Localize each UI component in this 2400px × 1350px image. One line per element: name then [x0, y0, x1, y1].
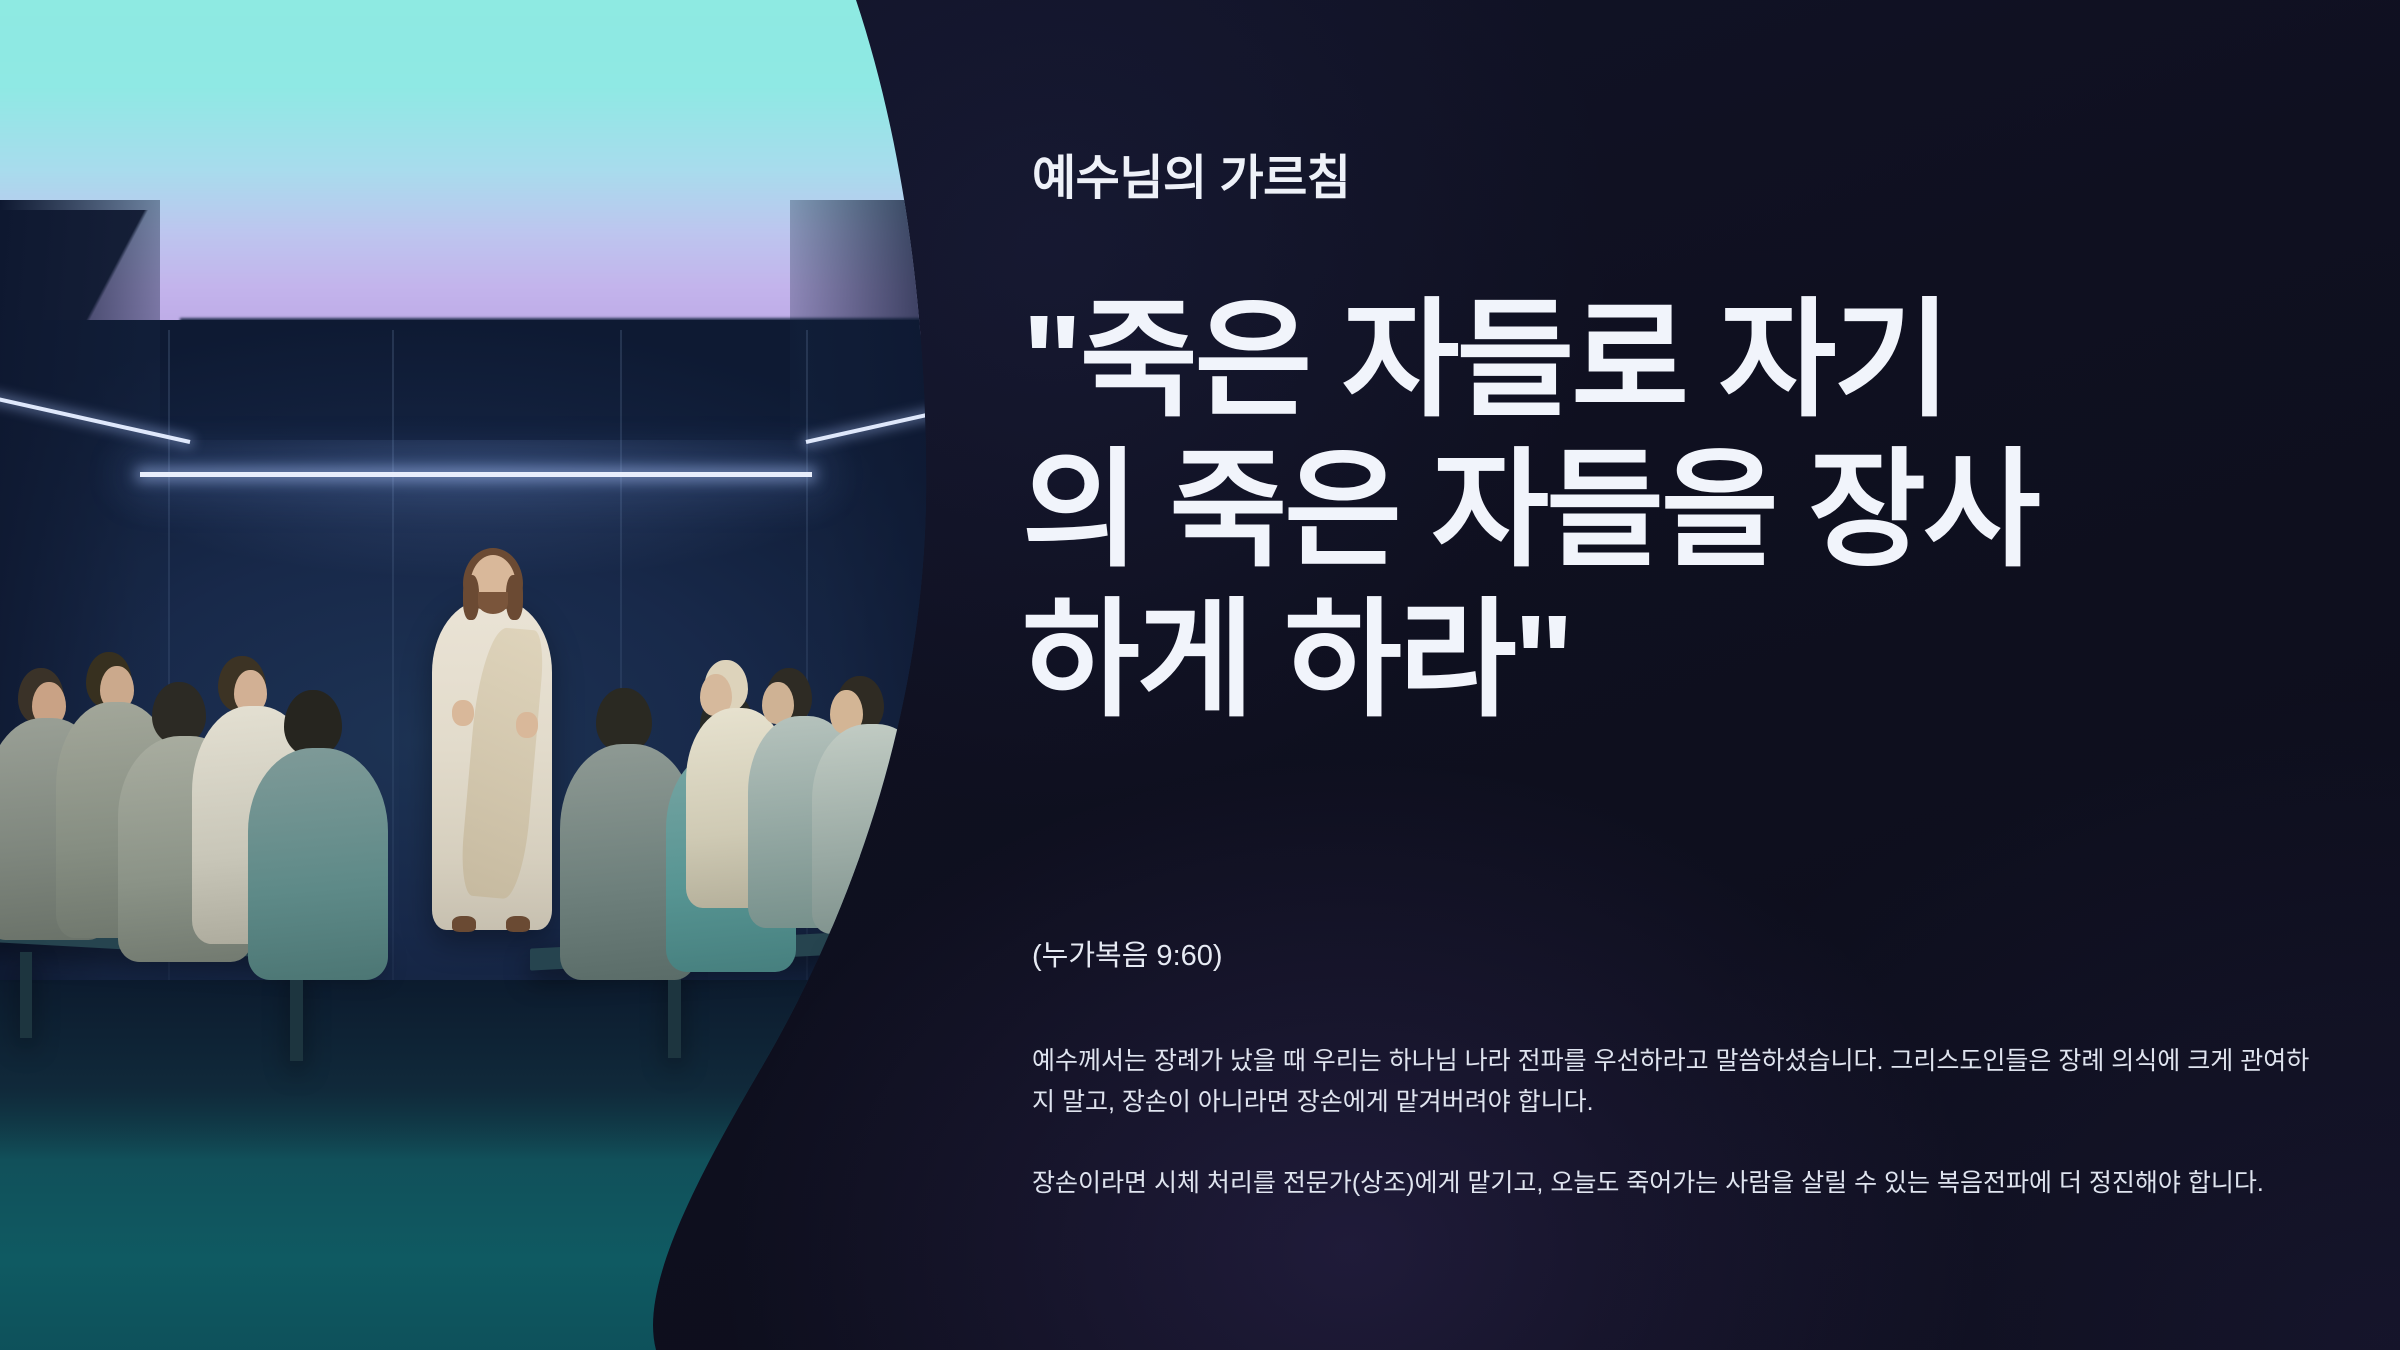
led-light-strip	[140, 472, 812, 477]
headline-line-1: "죽은 자들로 자기	[1022, 286, 2312, 436]
figure-hair-right	[506, 575, 523, 620]
figure-foot-left	[452, 916, 476, 932]
figure-hand-left	[452, 700, 474, 726]
body-paragraph-1: 예수께서는 장례가 났을 때 우리는 하나님 나라 전파를 우선하라고 말씀하셨…	[1032, 1041, 2310, 1122]
headline-line-2: 의 죽은 자들을 장사	[1022, 436, 2312, 586]
figure-head	[284, 690, 342, 756]
scripture-citation: (누가복음 9:60)	[1032, 932, 1223, 974]
headline-line-3: 하게 하라"	[1022, 586, 2312, 736]
figure-robe	[248, 748, 388, 980]
figure-beard	[478, 592, 508, 614]
wall-seam	[392, 330, 394, 990]
text-column: 예수님의 가르침 "죽은 자들로 자기 의 죽은 자들을 장사 하게 하라" (…	[1032, 0, 2302, 1350]
eyebrow-label: 예수님의 가르침	[1032, 138, 1350, 208]
figure-hand-right	[516, 712, 538, 738]
figure-foot-right	[506, 916, 530, 932]
body-paragraph-2: 장손이라면 시체 처리를 전문가(상조)에게 맡기고, 오늘도 죽어가는 사람을…	[1032, 1163, 2310, 1204]
figure-hair-left	[463, 575, 479, 620]
bench-leg	[20, 952, 32, 1038]
figure-head	[152, 682, 206, 744]
figure-head	[596, 688, 652, 752]
page-title: "죽은 자들로 자기 의 죽은 자들을 장사 하게 하라"	[1022, 286, 2312, 735]
slide-root: 예수님의 가르침 "죽은 자들로 자기 의 죽은 자들을 장사 하게 하라" (…	[0, 0, 2400, 1350]
